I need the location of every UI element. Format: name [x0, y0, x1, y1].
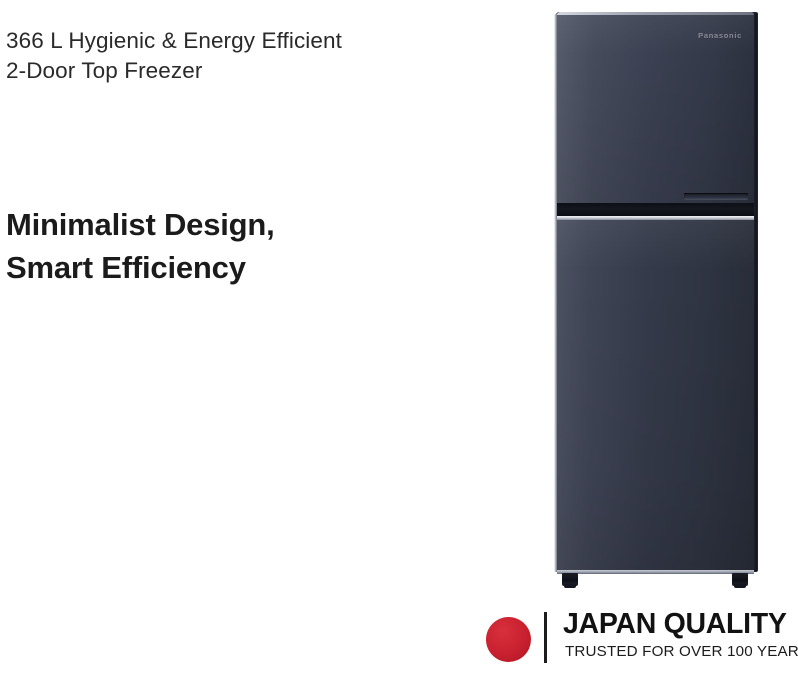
panasonic-logo: Panasonic	[698, 31, 742, 40]
product-subtitle: 366 L Hygienic & Energy Efficient 2-Door…	[6, 26, 436, 86]
fridge-door	[557, 220, 754, 572]
cabinet-top-face	[557, 12, 754, 15]
japan-flag-circle-icon	[486, 617, 531, 662]
refrigerator-image: Panasonic	[554, 12, 759, 586]
freezer-door-handle	[684, 193, 748, 200]
door-gap-shadow	[557, 203, 754, 216]
product-banner: 366 L Hygienic & Energy Efficient 2-Door…	[0, 0, 798, 688]
refrigerator-foot-left	[562, 573, 578, 586]
refrigerator-foot-right	[732, 573, 748, 586]
freezer-door: Panasonic	[557, 13, 754, 203]
badge-title: JAPAN QUALITY	[563, 608, 787, 641]
badge-subtitle: TRUSTED FOR OVER 100 YEARS	[565, 643, 798, 661]
cabinet-base-edge	[557, 570, 754, 574]
page-title: Minimalist Design, Smart Efficiency	[6, 203, 426, 289]
japan-quality-badge: JAPAN QUALITY TRUSTED FOR OVER 100 YEARS	[486, 608, 786, 670]
badge-divider	[544, 612, 547, 663]
